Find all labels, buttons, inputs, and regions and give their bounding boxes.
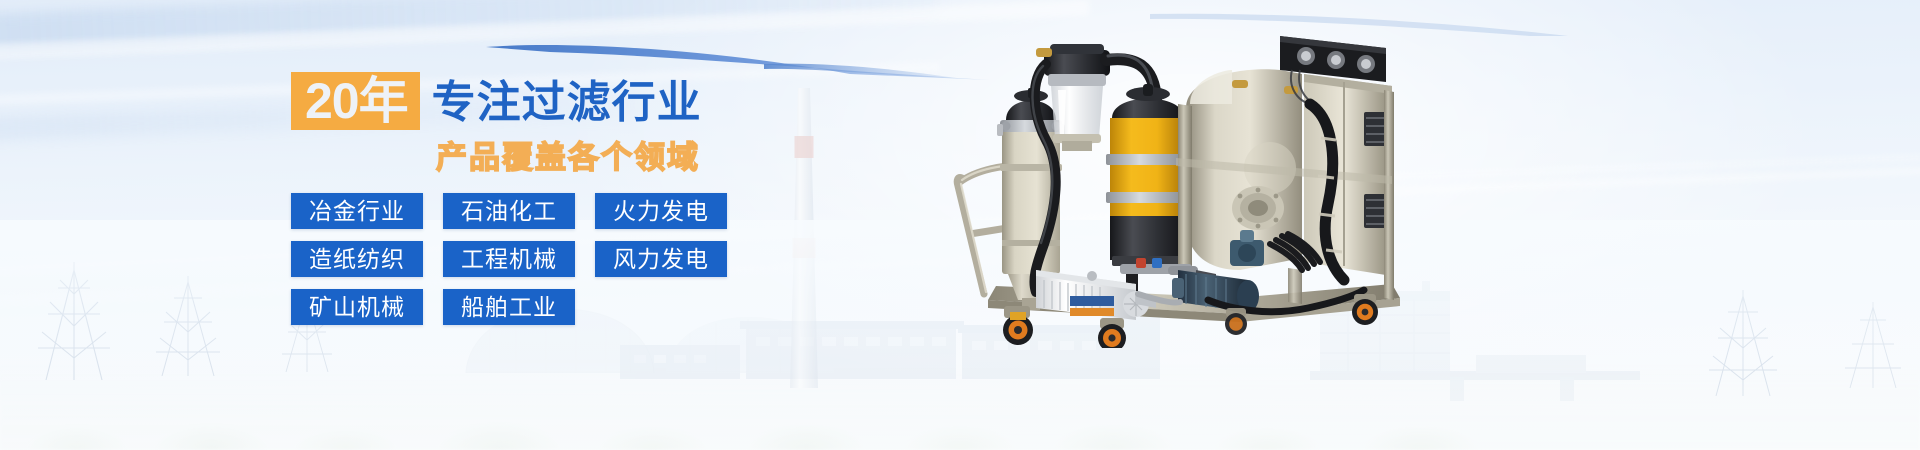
promo-copy-block: 20年 专注过滤行业 产品覆盖各个领域 冶金行业 石油化工 火力发电 造纸纺织 … [291,72,871,325]
promo-banner: 20年 专注过滤行业 产品覆盖各个领域 冶金行业 石油化工 火力发电 造纸纺织 … [0,0,1920,450]
yellow-filter-cartridge [1106,84,1190,266]
industry-tag-grid: 冶金行业 石油化工 火力发电 造纸纺织 工程机械 风力发电 矿山机械 船舶工业 [291,193,851,325]
brass-fitting [1036,48,1052,57]
pump-label-orange [1070,308,1114,316]
caster-rear-right [1352,294,1378,325]
industry-tag-shipbuilding[interactable]: 船舶工业 [443,289,575,325]
product-photo-oil-filtration-cart [940,8,1480,348]
caster-front-left [1003,306,1033,345]
industry-tag-petrochemical[interactable]: 石油化工 [443,193,575,229]
brass-fitting-tank [1232,80,1248,88]
pump-label-blue [1070,296,1114,306]
years-badge: 20年 [291,72,420,130]
industry-tag-thermal-power[interactable]: 火力发电 [595,193,727,229]
headline-row: 20年 专注过滤行业 [291,72,871,130]
caster-rear-left [1225,308,1247,335]
main-slogan: 专注过滤行业 [432,76,702,130]
industry-tag-wind-power[interactable]: 风力发电 [595,241,727,277]
industry-tag-metallurgy[interactable]: 冶金行业 [291,193,423,229]
industry-tag-paper-textile[interactable]: 造纸纺织 [291,241,423,277]
sub-slogan: 产品覆盖各个领域 [436,132,871,177]
industry-tag-mining-machinery[interactable]: 矿山机械 [291,289,423,325]
industry-tag-construction-machinery[interactable]: 工程机械 [443,241,575,277]
caster-front-right [1098,318,1126,348]
